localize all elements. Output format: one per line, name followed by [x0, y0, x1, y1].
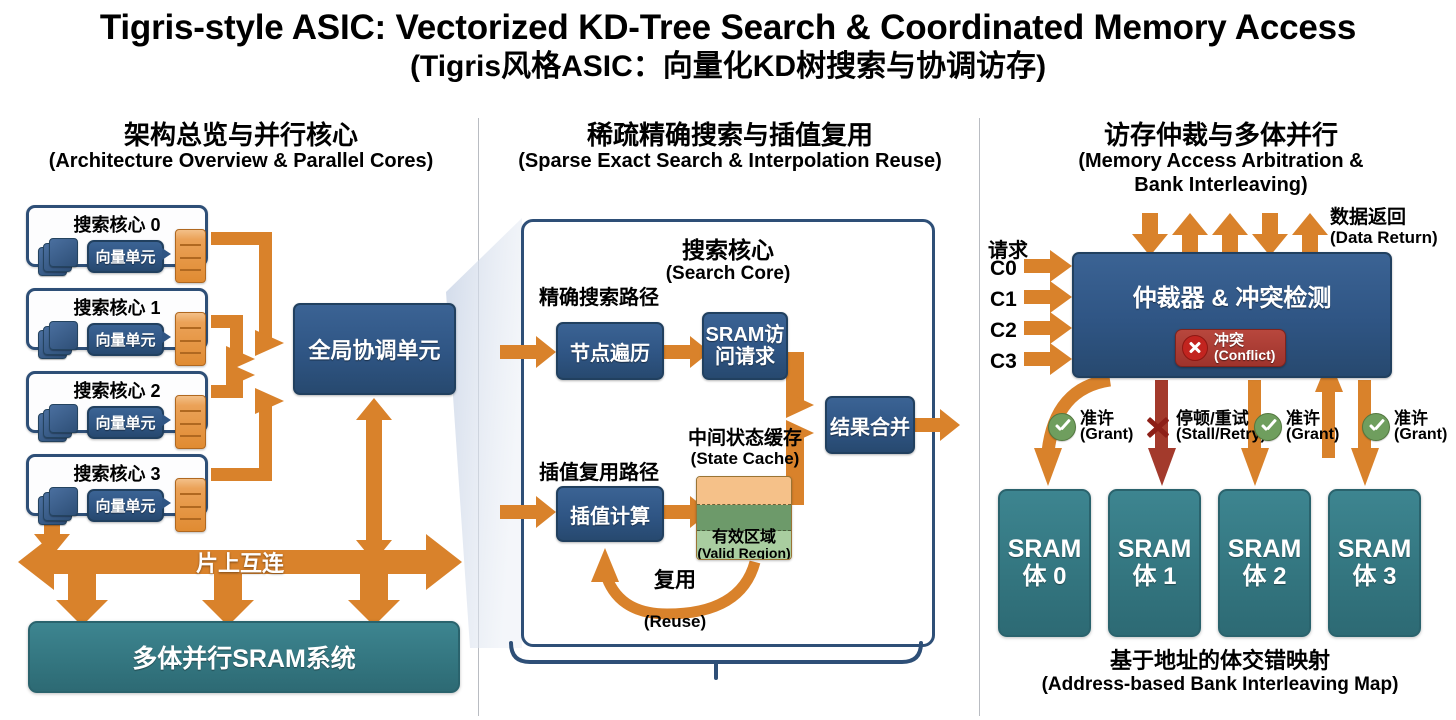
grant-check-icon-0: [1048, 413, 1076, 441]
lane-stack-0: [38, 238, 84, 276]
core-card-1[interactable]: 搜索核心 1 向量单元: [26, 288, 208, 350]
valid-region-en: (Valid Region): [697, 546, 790, 560]
right-panel-heading: 访存仲裁与多体并行 (Memory Access Arbitration & B…: [990, 120, 1452, 197]
multibank-sram-system[interactable]: 多体并行SRAM系统: [28, 621, 460, 693]
reuse-label: 复用 (Reuse): [640, 570, 710, 631]
sram-request-block[interactable]: SRAM访 问请求: [702, 312, 788, 380]
state-cache-caption: 中间状态缓存 (State Cache): [683, 429, 807, 468]
sram-request-line-1: SRAM访: [706, 324, 785, 346]
grant-arrow-bank3-head: [1351, 448, 1379, 486]
decision-mark-bank1: 停顿/重试 (Stall/Retry): [1144, 410, 1266, 444]
valid-region-cn: 有效区域: [712, 530, 776, 546]
decision-text-0: 准许 (Grant): [1080, 410, 1133, 444]
decision-mark-bank3: 准许 (Grant): [1362, 410, 1447, 444]
right-heading-en-1: (Memory Access Arbitration &: [990, 150, 1452, 174]
memory-stack-icon-2: [175, 395, 206, 449]
lane-stack-2: [38, 404, 84, 442]
sram-bank-3[interactable]: SRAM 体 3: [1328, 489, 1421, 637]
search-core-heading: 搜索核心 (Search Core): [524, 238, 932, 285]
memory-stack-icon-1: [175, 312, 206, 366]
vector-to-mem-arrow-icon-3: [162, 497, 171, 509]
interp-compute-block[interactable]: 插值计算: [556, 486, 664, 542]
title-sub: (Tigris风格ASIC：向量化KD树搜索与协调访存): [0, 49, 1456, 85]
stall-x-icon-1: [1144, 414, 1172, 440]
conflict-text: 冲突 (Conflict): [1214, 333, 1275, 363]
conflict-badge: 冲突 (Conflict): [1175, 329, 1286, 367]
middle-panel-heading: 稀疏精确搜索与插值复用 (Sparse Exact Search & Inter…: [486, 120, 974, 174]
request-label-c1: C1: [990, 288, 1017, 312]
memory-stack-icon-3: [175, 478, 206, 532]
vector-to-mem-arrow-icon-0: [162, 248, 171, 260]
sram-bank-3-sub: 体 3: [1352, 564, 1396, 591]
footer-en: (Address-based Bank Interleaving Map): [990, 674, 1450, 696]
lane-stack-1: [38, 321, 84, 359]
core2-arrowhead: [226, 362, 255, 388]
sram-bank-1-name: SRAM: [1118, 535, 1192, 564]
request-arrow-c3: [1024, 343, 1072, 375]
panel-divider-left: [478, 118, 479, 716]
right-heading-en-2: Bank Interleaving): [990, 174, 1452, 198]
search-core-bracket: [511, 643, 921, 678]
result-merge-block[interactable]: 结果合并: [825, 396, 915, 454]
core3-arrowhead: [255, 388, 284, 414]
page-title: Tigris-style ASIC: Vectorized KD-Tree Se…: [0, 8, 1456, 85]
global-coordinator-unit[interactable]: 全局协调单元: [293, 303, 456, 395]
cache-band-partial: [697, 505, 791, 531]
middle-heading-en: (Sparse Exact Search & Interpolation Reu…: [486, 150, 974, 174]
conflict-x-icon: [1182, 335, 1208, 361]
request-label-c0: C0: [990, 257, 1017, 281]
request-label-c2: C2: [990, 319, 1017, 343]
top-arrow-5-up: [1292, 213, 1328, 256]
core1-arrowhead: [226, 346, 255, 372]
sram-bank-2-sub: 体 2: [1242, 564, 1286, 591]
conflict-cn: 冲突: [1214, 333, 1275, 348]
vector-unit-0[interactable]: 向量单元: [87, 240, 164, 273]
diagram-canvas: Tigris-style ASIC: Vectorized KD-Tree Se…: [0, 0, 1456, 720]
left-heading-en: (Architecture Overview & Parallel Cores): [6, 150, 476, 174]
conflict-en: (Conflict): [1214, 348, 1275, 363]
vector-unit-2[interactable]: 向量单元: [87, 406, 164, 439]
sram-bank-2-name: SRAM: [1228, 535, 1302, 564]
vector-to-mem-arrow-icon-1: [162, 331, 171, 343]
right-heading-cn: 访存仲裁与多体并行: [990, 120, 1452, 150]
decision-mark-bank2: 准许 (Grant): [1254, 410, 1339, 444]
cache-band-invalid: [697, 477, 791, 505]
core3-connector: [211, 400, 272, 481]
vector-unit-1[interactable]: 向量单元: [87, 323, 164, 356]
decision-mark-bank0: 准许 (Grant): [1048, 410, 1133, 444]
title-main: Tigris-style ASIC: Vectorized KD-Tree Se…: [0, 8, 1456, 47]
decision-text-1: 停顿/重试 (Stall/Retry): [1176, 410, 1266, 444]
search-core-title-en: (Search Core): [524, 263, 932, 285]
request-arrow-c2: [1024, 312, 1072, 344]
panel-divider-right: [979, 118, 980, 716]
node-traverse-block[interactable]: 节点遍历: [556, 322, 664, 380]
bank-interleaving-footer: 基于地址的体交错映射 (Address-based Bank Interleav…: [990, 648, 1450, 696]
grant-arrow-bank2-head: [1241, 448, 1269, 486]
vector-to-mem-arrow-icon-2: [162, 414, 171, 426]
sram-bank-1-sub: 体 1: [1132, 564, 1176, 591]
core0-connector: [211, 232, 272, 342]
left-heading-cn: 架构总览与并行核心: [6, 120, 476, 150]
core1-connector: [211, 315, 243, 358]
middle-heading-cn: 稀疏精确搜索与插值复用: [486, 120, 974, 150]
core-card-2[interactable]: 搜索核心 2 向量单元: [26, 371, 208, 433]
grant-check-icon-2: [1254, 413, 1282, 441]
grant-arrow-bank0-head: [1034, 448, 1062, 486]
search-core-title-cn: 搜索核心: [524, 238, 932, 263]
callout-wedge: [446, 218, 522, 648]
left-panel-heading: 架构总览与并行核心 (Architecture Overview & Paral…: [6, 120, 476, 174]
stall-arrow-bank1-head: [1148, 448, 1176, 486]
core0-arrowhead: [255, 330, 284, 356]
sram-bank-0-name: SRAM: [1008, 535, 1082, 564]
sram-bank-3-name: SRAM: [1338, 535, 1412, 564]
on-chip-interconnect-label: 片上互连: [54, 540, 426, 584]
sram-bank-0[interactable]: SRAM 体 0: [998, 489, 1091, 637]
sram-bank-0-sub: 体 0: [1022, 564, 1066, 591]
lane-stack-3: [38, 487, 84, 525]
state-cache-block[interactable]: 有效区域 (Valid Region): [696, 476, 792, 560]
top-arrow-1-down: [1132, 213, 1168, 256]
top-arrow-3-up: [1212, 213, 1248, 256]
top-arrow-4-down: [1252, 213, 1288, 256]
sram-bank-2[interactable]: SRAM 体 2: [1218, 489, 1311, 637]
request-label-c3: C3: [990, 350, 1017, 374]
sram-request-line-2: 问请求: [715, 346, 775, 368]
vector-unit-3[interactable]: 向量单元: [87, 489, 164, 522]
grant-check-icon-3: [1362, 413, 1390, 441]
sram-bank-1[interactable]: SRAM 体 1: [1108, 489, 1201, 637]
decision-text-3: 准许 (Grant): [1394, 410, 1447, 444]
cache-band-valid: 有效区域 (Valid Region): [697, 531, 791, 560]
core-card-3[interactable]: 搜索核心 3 向量单元: [26, 454, 208, 516]
top-arrow-2-up: [1172, 213, 1208, 256]
coordinator-interconnect-arrow-up: [356, 398, 392, 430]
core2-connector: [211, 375, 243, 398]
decision-text-2: 准许 (Grant): [1286, 410, 1339, 444]
request-arrow-c0: [1024, 250, 1072, 282]
memory-stack-icon-0: [175, 229, 206, 283]
core-card-0[interactable]: 搜索核心 0 向量单元: [26, 205, 208, 267]
footer-cn: 基于地址的体交错映射: [990, 648, 1450, 674]
interp-reuse-path-label: 插值复用路径: [539, 463, 659, 485]
request-arrow-c1: [1024, 281, 1072, 313]
data-return-label: 数据返回 (Data Return): [1330, 208, 1438, 247]
exact-search-path-label: 精确搜索路径: [539, 288, 659, 310]
